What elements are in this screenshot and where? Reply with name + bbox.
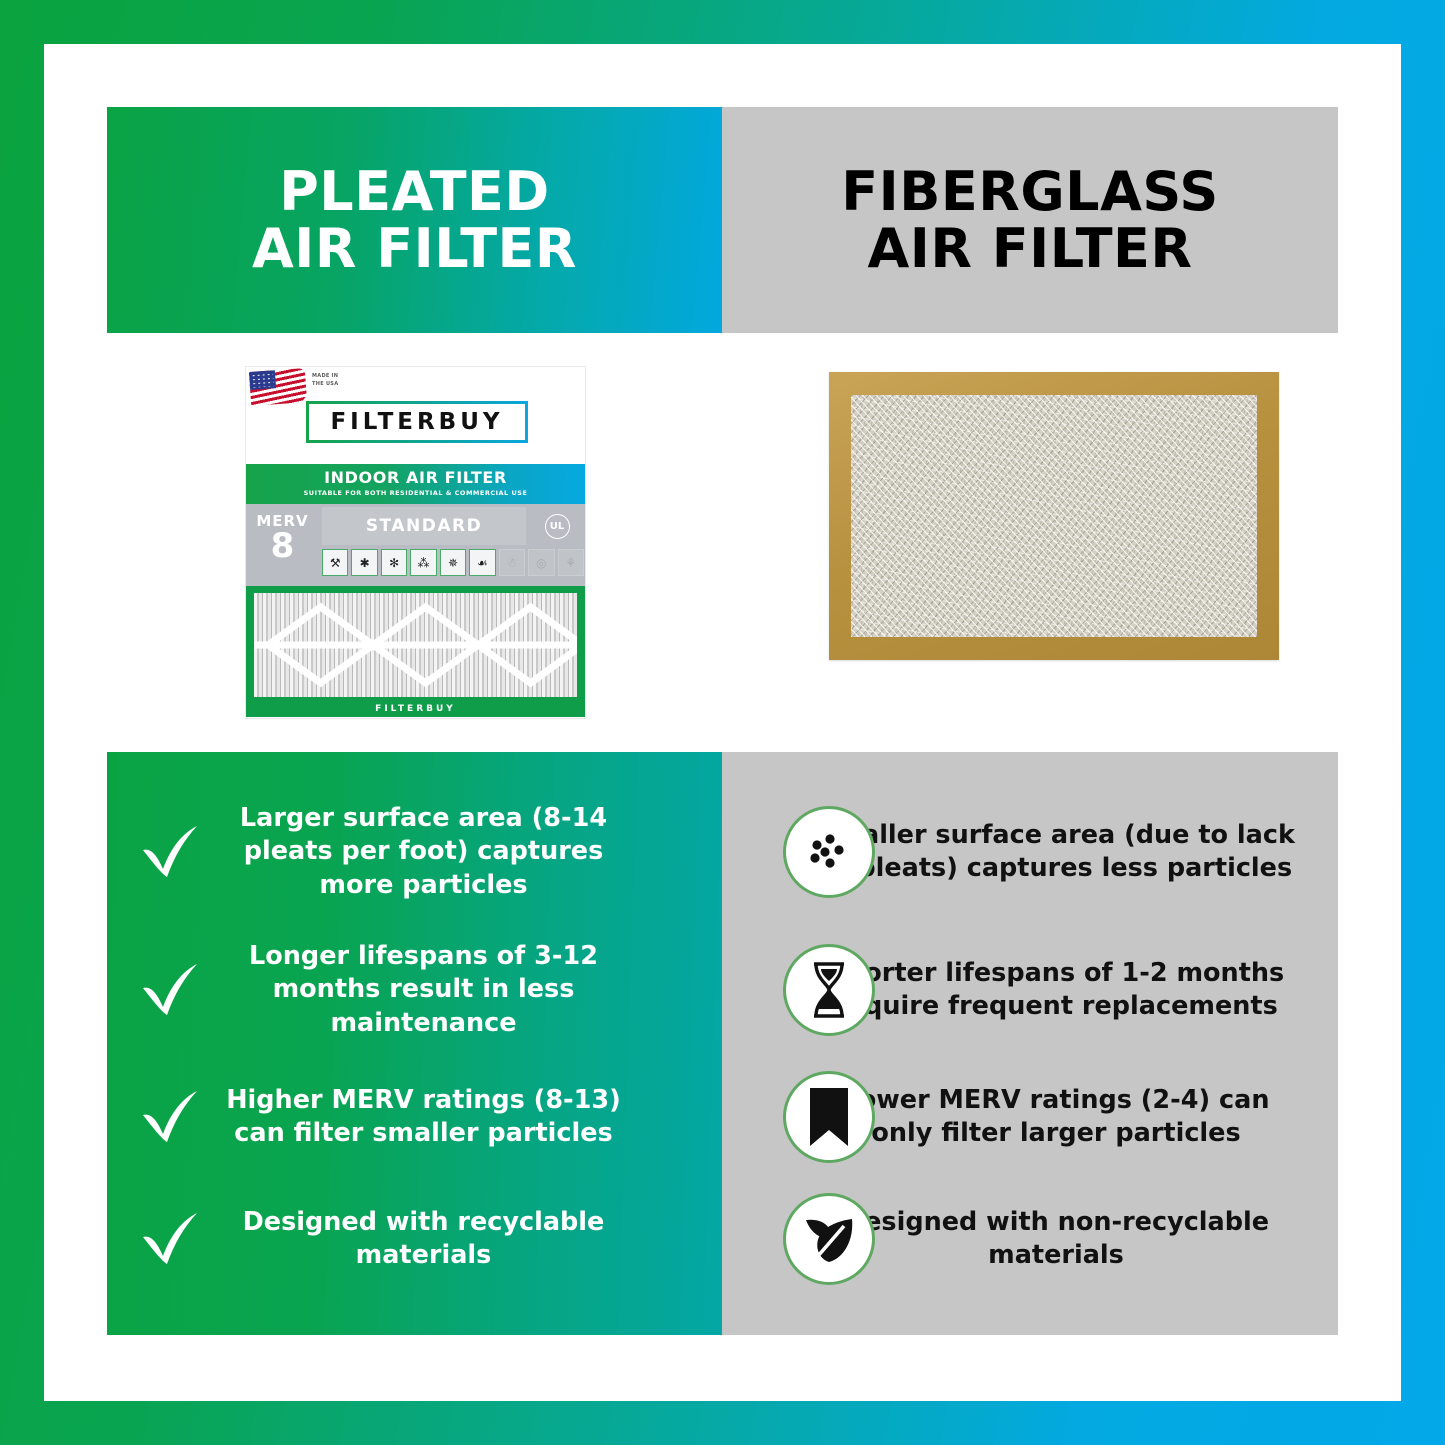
package-footer-brand: FILTERBUY: [246, 704, 585, 714]
made-in-usa-label: MADE IN THE USA: [312, 373, 338, 388]
comparison-section: Larger surface area (8-14 pleats per foo…: [107, 752, 1338, 1335]
row-pleated-side: Higher MERV ratings (8-13) can filter sm…: [107, 1084, 722, 1150]
filterbuy-logo-text: FILTERBUY: [330, 409, 503, 435]
lint-icon: ✵: [440, 549, 466, 576]
check-mark-icon: [137, 824, 203, 880]
package-band: INDOOR AIR FILTER SUITABLE FOR BOTH RESI…: [246, 464, 585, 504]
fiberglass-mesh-texture: [851, 395, 1257, 637]
package-top: MADE IN THE USA FILTERBUY: [246, 367, 585, 464]
pleat-texture: [254, 593, 577, 697]
row-pleated-side: Larger surface area (8-14 pleats per foo…: [107, 802, 722, 901]
check-mark-icon: [137, 1089, 203, 1145]
band-subtitle: SUITABLE FOR BOTH RESIDENTIAL & COMMERCI…: [246, 489, 585, 497]
smoke-icon: ☃: [499, 549, 525, 576]
merv-value: 8: [246, 530, 319, 562]
check-mark-icon: [137, 962, 203, 1018]
hourglass-icon: [783, 944, 875, 1036]
insect-icon: ✱: [351, 549, 377, 576]
merv-badge: MERV 8: [246, 504, 319, 586]
pleated-benefit-text: Designed with recyclable materials: [203, 1206, 722, 1272]
dust-icon: ⚒: [322, 549, 348, 576]
header-pleated: PLEATED AIR FILTER: [107, 107, 722, 333]
pleated-benefit-text: Higher MERV ratings (8-13) can filter sm…: [203, 1084, 722, 1150]
pleated-product-cell: MADE IN THE USA FILTERBUY INDOOR AIR FIL…: [107, 333, 722, 752]
fiberglass-product-cell: [722, 333, 1338, 752]
fiberglass-filter-image: [829, 372, 1279, 660]
check-mark-icon: [137, 1211, 203, 1267]
ul-certification: UL: [531, 507, 583, 545]
virus-icon: ⚘: [558, 549, 584, 576]
fiberglass-title: FIBERGLASS AIR FILTER: [841, 163, 1219, 277]
filterbuy-logo: FILTERBUY: [306, 401, 528, 443]
header-band: PLEATED AIR FILTER FIBERGLASS AIR FILTER: [107, 107, 1338, 333]
package-spec-strip: MERV 8 STANDARD UL ⚒✱✻⁂✵☙☃◎⚘: [246, 504, 585, 586]
comparison-row: Higher MERV ratings (8-13) can filter sm…: [107, 1062, 1338, 1172]
grade-box: STANDARD: [322, 507, 526, 545]
feature-icon-strip: ⚒✱✻⁂✵☙☃◎⚘: [322, 549, 584, 583]
pleated-benefit-text: Larger surface area (8-14 pleats per foo…: [203, 802, 722, 901]
leaf-recycle-icon: [783, 1193, 875, 1285]
grade-label: STANDARD: [366, 516, 482, 536]
band-title: INDOOR AIR FILTER: [246, 468, 585, 487]
pleated-benefit-text: Longer lifespans of 3-12 months result i…: [203, 940, 722, 1039]
comparison-row: Designed with recyclable materialsDesign…: [107, 1184, 1338, 1294]
filterbuy-package-image: MADE IN THE USA FILTERBUY INDOOR AIR FIL…: [245, 366, 586, 719]
pleated-filter-photo: FILTERBUY: [246, 586, 585, 717]
pleated-title: PLEATED AIR FILTER: [252, 163, 577, 277]
ul-mark-icon: UL: [545, 514, 570, 539]
row-pleated-side: Longer lifespans of 3-12 months result i…: [107, 940, 722, 1039]
product-images-row: MADE IN THE USA FILTERBUY INDOOR AIR FIL…: [107, 333, 1338, 752]
pet-dander-icon: ☙: [469, 549, 495, 576]
header-fiberglass: FIBERGLASS AIR FILTER: [722, 107, 1338, 333]
comparison-rows: Larger surface area (8-14 pleats per foo…: [107, 752, 1338, 1335]
diamond-support-grid: [254, 593, 577, 697]
bacteria-icon: ◎: [528, 549, 554, 576]
particles-icon: [783, 806, 875, 898]
row-pleated-side: Designed with recyclable materials: [107, 1206, 722, 1272]
comparison-row: Larger surface area (8-14 pleats per foo…: [107, 788, 1338, 916]
usa-flag-icon: [249, 368, 307, 406]
pollen-icon: ✻: [381, 549, 407, 576]
debris-icon: ⁂: [410, 549, 436, 576]
ribbon-bookmark-icon: [783, 1071, 875, 1163]
comparison-row: Longer lifespans of 3-12 months result i…: [107, 935, 1338, 1045]
